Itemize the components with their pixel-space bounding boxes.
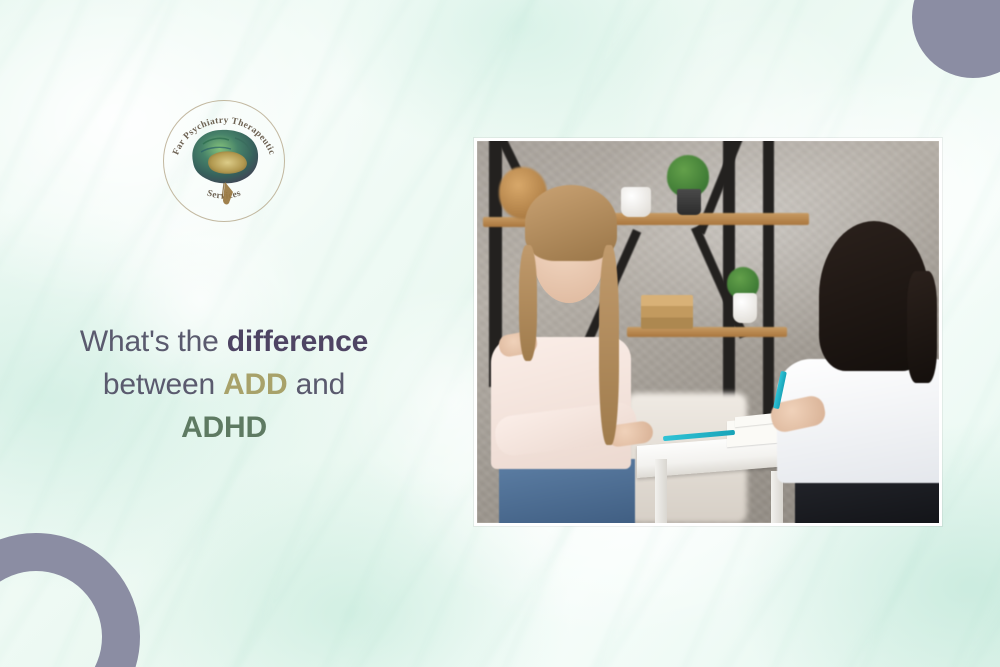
logo-svg: Far Psychiatry Therapeutic Services [163,100,285,222]
girl-braid-left [519,245,537,361]
books-stack [641,295,693,329]
headline-emphasis-adhd: ADHD [181,411,267,444]
headline-line-1: What's the difference [0,322,448,362]
girl-braid-right [599,245,619,445]
add-vs-adhd-banner: Far Psychiatry Therapeutic Services What… [0,0,1000,667]
shelf-post-right [763,138,774,437]
headline-emphasis-difference: difference [227,325,368,358]
headline-line-3: ADHD [0,408,448,448]
headline-text-and: and [287,368,345,401]
headline-text-between: between [103,368,223,401]
headline-emphasis-add: ADD [223,368,287,401]
page-title: What's the difference between ADD and AD… [0,322,448,449]
plant-pot-upper [677,189,701,215]
therapy-session-photo [474,138,942,526]
plant-pot-lower [733,293,757,323]
logo[interactable]: Far Psychiatry Therapeutic Services [163,100,285,222]
brain-icon [192,130,258,205]
girl-jeans [499,459,635,526]
headline-text-whats-the: What's the [80,325,227,358]
headline-line-2: between ADD and [0,365,448,405]
therapist-hair-strand-right [907,271,937,383]
white-pot-decor [621,187,651,217]
table-leg-front [655,459,667,525]
